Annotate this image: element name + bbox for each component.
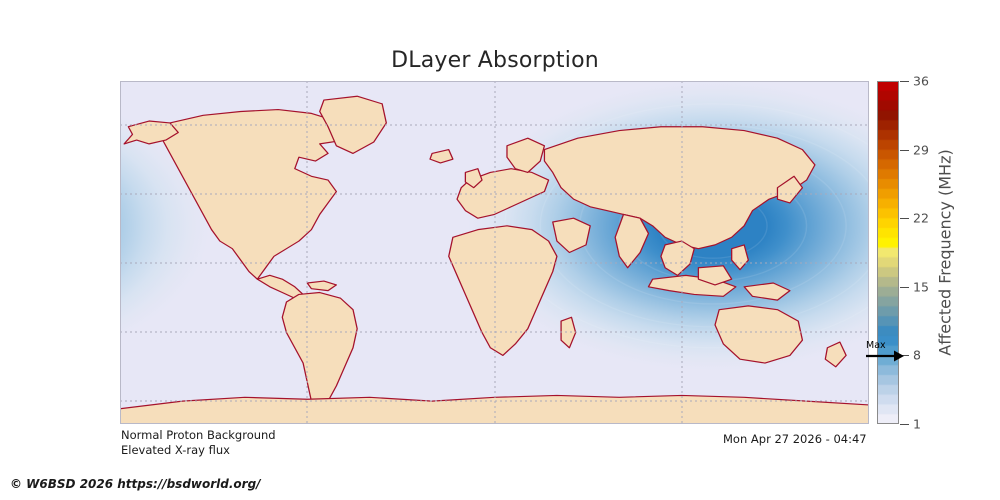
world-map-plot[interactable] [120,81,869,424]
colorbar-tick-label: 36 [913,74,929,89]
timestamp: Mon Apr 27 2026 - 04:47 [723,432,867,446]
colorbar-tick-label: 29 [913,142,929,157]
colorbar-tick-label: 15 [913,279,929,294]
max-marker-label: Max [866,340,886,351]
colorbar-tick [900,424,909,425]
colorbar-tick [900,81,909,82]
land-antarctica [120,395,869,424]
page-title: DLayer Absorption [0,48,990,73]
colorbar-tick-label: 22 [913,211,929,226]
copyright-notice: © W6BSD 2026 https://bsdworld.org/ [10,477,261,491]
colorbar-border [877,81,899,424]
note-xray-flux: Elevated X-ray flux [121,443,276,458]
colorbar-tick [900,150,909,151]
colorbar-axis-label-text: Affected Frequency (MHz) [936,149,955,355]
note-proton-background: Normal Proton Background [121,428,276,443]
colorbar-tick-label: 1 [913,417,921,432]
colorbar-tick-label: 8 [913,348,921,363]
colorbar-axis-label: Affected Frequency (MHz) [933,81,957,424]
dlayer-absorption-figure: DLayer Absorption [0,0,1000,500]
colorbar-tick [900,218,909,219]
status-notes: Normal Proton Background Elevated X-ray … [121,428,276,457]
map-svg [120,81,869,424]
colorbar-tick [900,287,909,288]
